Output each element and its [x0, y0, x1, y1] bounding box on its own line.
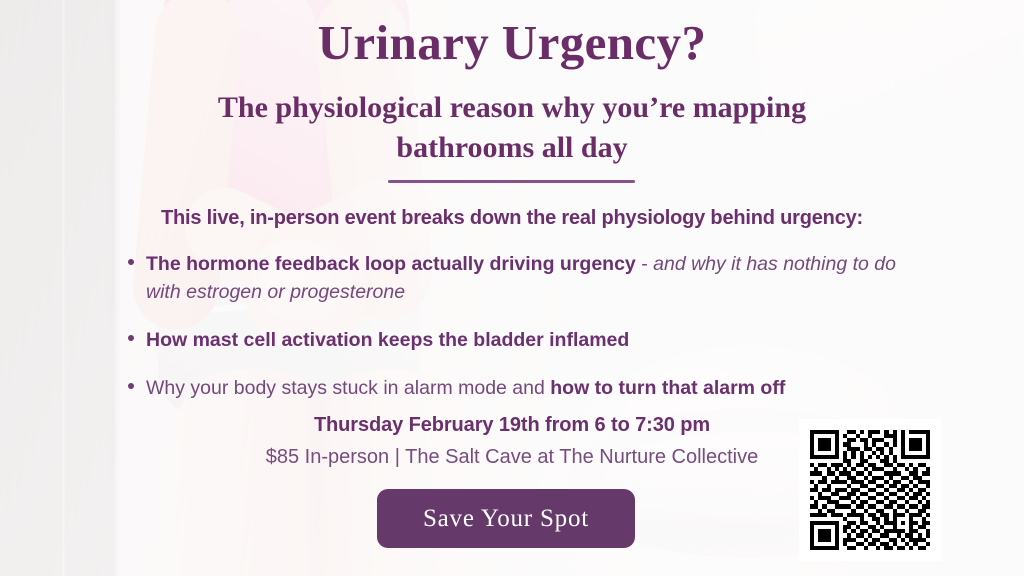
list-item: Why your body stays stuck in alarm mode … [124, 374, 904, 402]
bullet-dot [128, 383, 134, 389]
bullet-plain-lead: Why your body stays stuck in alarm mode … [146, 377, 550, 399]
title-divider [388, 180, 635, 183]
lede-text: This live, in-person event breaks down t… [0, 207, 1024, 230]
qr-matrix[interactable] [810, 430, 930, 550]
bullet-separator: - [636, 253, 653, 275]
bullet-dot [128, 335, 134, 341]
list-item: The hormone feedback loop actually drivi… [124, 250, 904, 307]
event-flyer: Urinary Urgency? The physiological reaso… [0, 0, 1024, 576]
bullet-bold-lead: The hormone feedback loop actually drivi… [146, 253, 636, 275]
qr-code[interactable] [799, 419, 941, 561]
save-your-spot-button[interactable]: Save Your Spot [377, 489, 635, 548]
bullet-bold-lead: How mast cell activation keeps the bladd… [146, 329, 629, 351]
bullet-bold-tail: how to turn that alarm off [550, 377, 785, 399]
bullet-dot [128, 259, 134, 265]
page-title: Urinary Urgency? [0, 14, 1024, 71]
flyer-content: Urinary Urgency? The physiological reaso… [0, 0, 1024, 576]
list-item: How mast cell activation keeps the bladd… [124, 326, 904, 354]
benefits-list: The hormone feedback loop actually drivi… [124, 250, 904, 402]
page-subtitle: The physiological reason why you’re mapp… [170, 88, 854, 167]
